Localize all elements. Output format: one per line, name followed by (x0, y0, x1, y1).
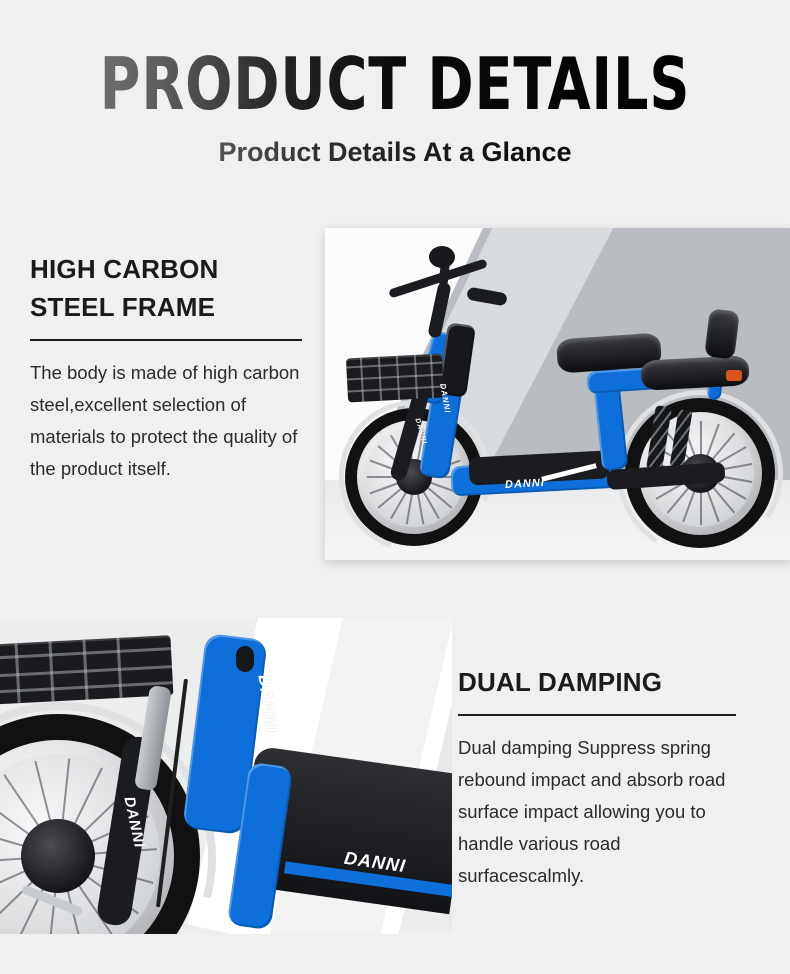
section-dual-damping-text: DUAL DAMPING Dual damping Suppress sprin… (458, 663, 736, 892)
front-basket-closeup (0, 635, 173, 705)
rear-backrest (704, 308, 740, 359)
page-title: PRODUCT DETAILS (55, 48, 734, 120)
head-tube-keyhole (236, 646, 254, 672)
section-2-product-image: DANNI DANNI DANNI (0, 618, 452, 934)
front-basket (346, 354, 444, 403)
product-details-page: PRODUCT DETAILS Product Details At a Gla… (0, 0, 790, 974)
front-fork-closeup-illustration: DANNI DANNI DANNI (0, 618, 452, 934)
ebike-side-view-illustration: DANNI DANNI DANNI (325, 228, 790, 560)
section-2-body: Dual damping Suppress spring rebound imp… (458, 732, 736, 892)
page-header: PRODUCT DETAILS Product Details At a Gla… (0, 0, 790, 200)
section-1-divider (30, 339, 302, 341)
page-subtitle: Product Details At a Glance (0, 136, 790, 168)
section-2-divider (458, 714, 736, 716)
section-2-heading: DUAL DAMPING (458, 663, 736, 701)
section-high-carbon-steel-frame-text: HIGH CARBON STEEL FRAME The body is made… (30, 250, 302, 485)
section-1-body: The body is made of high carbon steel,ex… (30, 357, 302, 485)
rear-reflector (726, 370, 742, 381)
footboard-brand-decal: DANNI (505, 477, 545, 491)
mirror-head (429, 246, 455, 268)
section-1-product-image: DANNI DANNI DANNI (325, 228, 790, 560)
section-1-heading: HIGH CARBON STEEL FRAME (30, 250, 302, 326)
